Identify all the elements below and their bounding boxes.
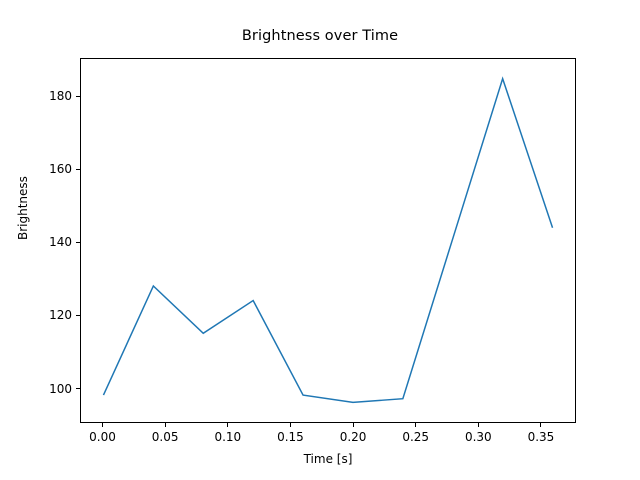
y-axis-label: Brightness	[16, 176, 30, 240]
x-tick-mark	[102, 423, 103, 427]
x-tick-label: 0.20	[340, 430, 367, 444]
x-tick-mark	[540, 423, 541, 427]
x-tick-mark	[415, 423, 416, 427]
y-tick-mark	[76, 242, 80, 243]
plot-area	[80, 58, 576, 423]
chart-title: Brightness over Time	[0, 28, 640, 44]
x-axis-label: Time [s]	[80, 452, 576, 466]
x-tick-mark	[165, 423, 166, 427]
y-tick-label: 140	[30, 235, 72, 249]
x-tick-label: 0.10	[214, 430, 241, 444]
x-tick-mark	[478, 423, 479, 427]
x-tick-label: 0.15	[277, 430, 304, 444]
x-tick-label: 0.35	[528, 430, 555, 444]
data-line-series	[81, 59, 575, 422]
y-tick-mark	[76, 315, 80, 316]
y-tick-label: 100	[30, 382, 72, 396]
x-tick-label: 0.00	[89, 430, 116, 444]
chart-figure: Brightness over Time Brightness Time [s]…	[0, 0, 640, 480]
x-tick-mark	[227, 423, 228, 427]
y-tick-mark	[76, 169, 80, 170]
x-tick-label: 0.25	[402, 430, 429, 444]
y-tick-label: 120	[30, 308, 72, 322]
x-tick-mark	[353, 423, 354, 427]
y-tick-label: 160	[30, 162, 72, 176]
x-tick-label: 0.05	[152, 430, 179, 444]
y-tick-mark	[76, 388, 80, 389]
x-tick-label: 0.30	[465, 430, 492, 444]
y-tick-mark	[76, 96, 80, 97]
brightness-line-path	[103, 79, 552, 403]
y-tick-label: 180	[30, 89, 72, 103]
x-tick-mark	[290, 423, 291, 427]
